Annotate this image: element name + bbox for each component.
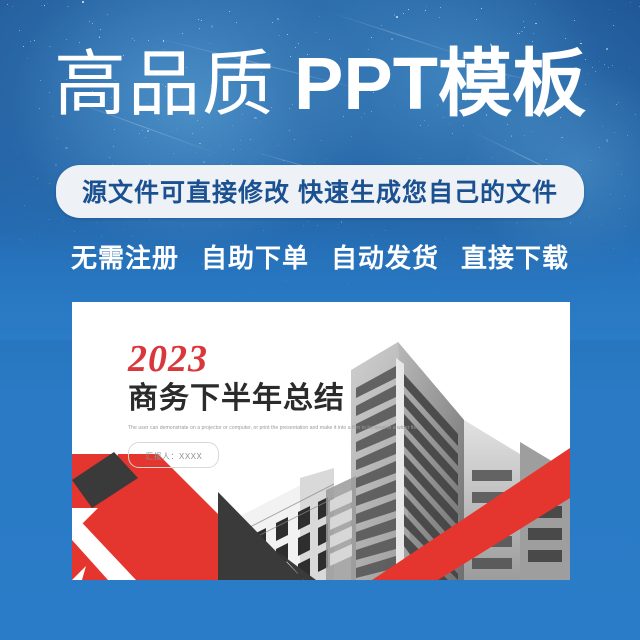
card-description: The user can demonstrate on a projector … bbox=[128, 424, 428, 434]
card-text-block: 2023 商务下半年总结 The user can demonstrate on… bbox=[128, 340, 428, 468]
card-presenter-label: 汇报人：XXXX bbox=[145, 452, 202, 461]
feature-item: 无需注册 bbox=[71, 238, 179, 275]
feature-item: 直接下载 bbox=[461, 238, 569, 275]
title-light-part: 高品质 bbox=[54, 42, 276, 126]
subtitle-text: 源文件可直接修改 快速生成您自己的文件 bbox=[82, 173, 558, 209]
title-bold-part: PPT模板 bbox=[294, 42, 586, 125]
card-year: 2023 bbox=[128, 340, 428, 378]
promo-banner: 高品质PPT模板 源文件可直接修改 快速生成您自己的文件 无需注册自助下单自动发… bbox=[0, 0, 640, 640]
subtitle-pill: 源文件可直接修改 快速生成您自己的文件 bbox=[56, 165, 584, 218]
page-title: 高品质PPT模板 bbox=[0, 47, 640, 121]
card-presenter-pill: 汇报人：XXXX bbox=[128, 442, 219, 468]
feature-item: 自助下单 bbox=[201, 238, 309, 275]
card-title: 商务下半年总结 bbox=[128, 383, 428, 415]
ppt-preview-card[interactable]: 2023 商务下半年总结 The user can demonstrate on… bbox=[72, 302, 570, 580]
feature-item: 自动发货 bbox=[331, 238, 439, 275]
feature-list: 无需注册自助下单自动发货直接下载 bbox=[0, 238, 640, 275]
